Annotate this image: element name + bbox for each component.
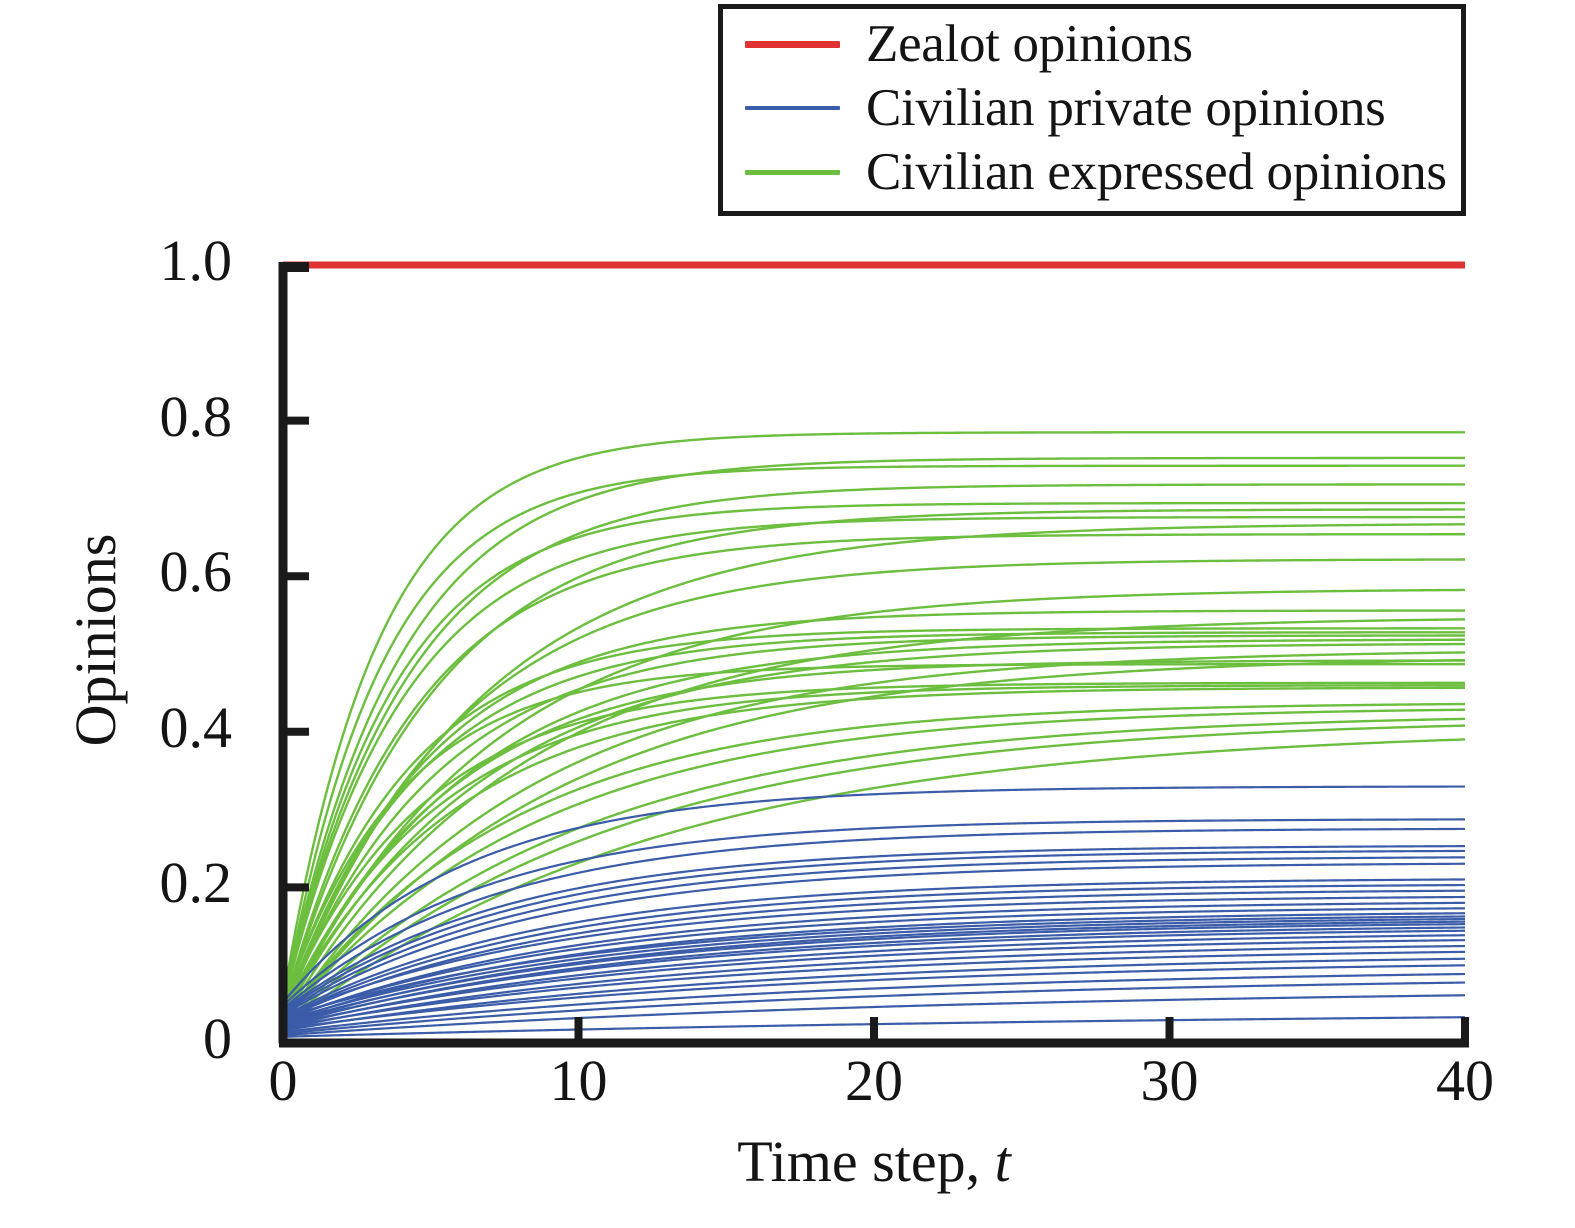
legend-color-swatch [745, 106, 840, 110]
legend-color-swatch [745, 41, 840, 48]
legend-entry-label: Zealot opinions [866, 18, 1193, 71]
legend-entry-list: Zealot opinionsCivilian private opinions… [723, 9, 1461, 211]
legend-entry[interactable]: Civilian expressed opinions [723, 140, 1461, 204]
data-curves-group [283, 265, 1465, 1037]
chart-legend: Zealot opinionsCivilian private opinions… [718, 4, 1466, 216]
legend-entry[interactable]: Zealot opinions [723, 12, 1461, 76]
figure-canvas: 00.20.40.60.81.0 Opinions Time step, t Z… [0, 0, 1575, 1228]
legend-entry[interactable]: Civilian private opinions [723, 76, 1461, 140]
series-civilian-private-opinions [283, 787, 1465, 1037]
legend-entry-label: Civilian private opinions [866, 82, 1386, 135]
data-curve [283, 952, 1465, 1028]
legend-entry-label: Civilian expressed opinions [866, 146, 1447, 199]
legend-color-swatch [745, 170, 840, 175]
